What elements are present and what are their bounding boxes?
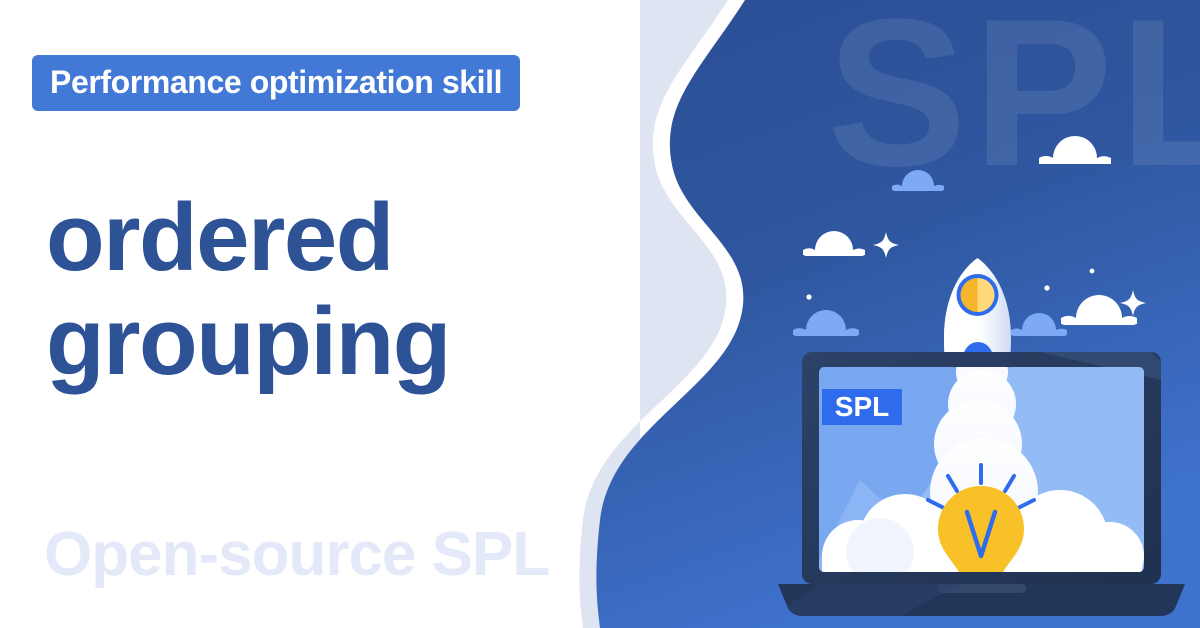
lightbulb-icon <box>928 465 1034 606</box>
page-title-line-1: ordered <box>46 186 646 290</box>
cloud-icon <box>1061 295 1137 325</box>
wave-panel <box>596 0 1200 628</box>
spl-watermark: SPL <box>827 0 1200 210</box>
footer-brand-label: Open-source SPL <box>44 524 549 586</box>
rocket-window-ring <box>957 274 999 316</box>
laptop-icon: SPL <box>778 346 1185 616</box>
sparkle-star-icon <box>1142 386 1162 406</box>
screen-spl-badge: SPL <box>822 389 902 425</box>
laptop-trackpad-notch <box>938 584 1026 593</box>
screen-spl-badge-label: SPL <box>835 391 889 422</box>
category-badge: Performance optimization skill <box>32 55 520 111</box>
star-dot-icon <box>806 294 811 299</box>
star-dot-icon <box>1044 285 1049 290</box>
cloud-icon <box>793 310 859 336</box>
sparkle-star-icon <box>873 232 899 258</box>
star-dot-icon <box>1090 269 1095 274</box>
cloud-icon <box>803 231 865 256</box>
laptop-base <box>778 584 1185 616</box>
sparkle-star-icon <box>1120 290 1146 316</box>
rocket-icon <box>901 258 1054 447</box>
smoke-plume <box>822 346 1144 592</box>
page-title-line-2: grouping <box>46 290 646 394</box>
page-title: ordered grouping <box>46 186 646 393</box>
rocket-window <box>961 278 995 312</box>
star-dot-icon <box>810 358 814 362</box>
cloud-icon <box>892 170 944 191</box>
laptop-screen <box>819 367 1144 572</box>
cloud-icon <box>1039 136 1111 164</box>
text-column: Performance optimization skill ordered g… <box>0 0 660 628</box>
cloud-icon <box>1011 313 1067 336</box>
promo-banner: SPL <box>0 0 1200 628</box>
